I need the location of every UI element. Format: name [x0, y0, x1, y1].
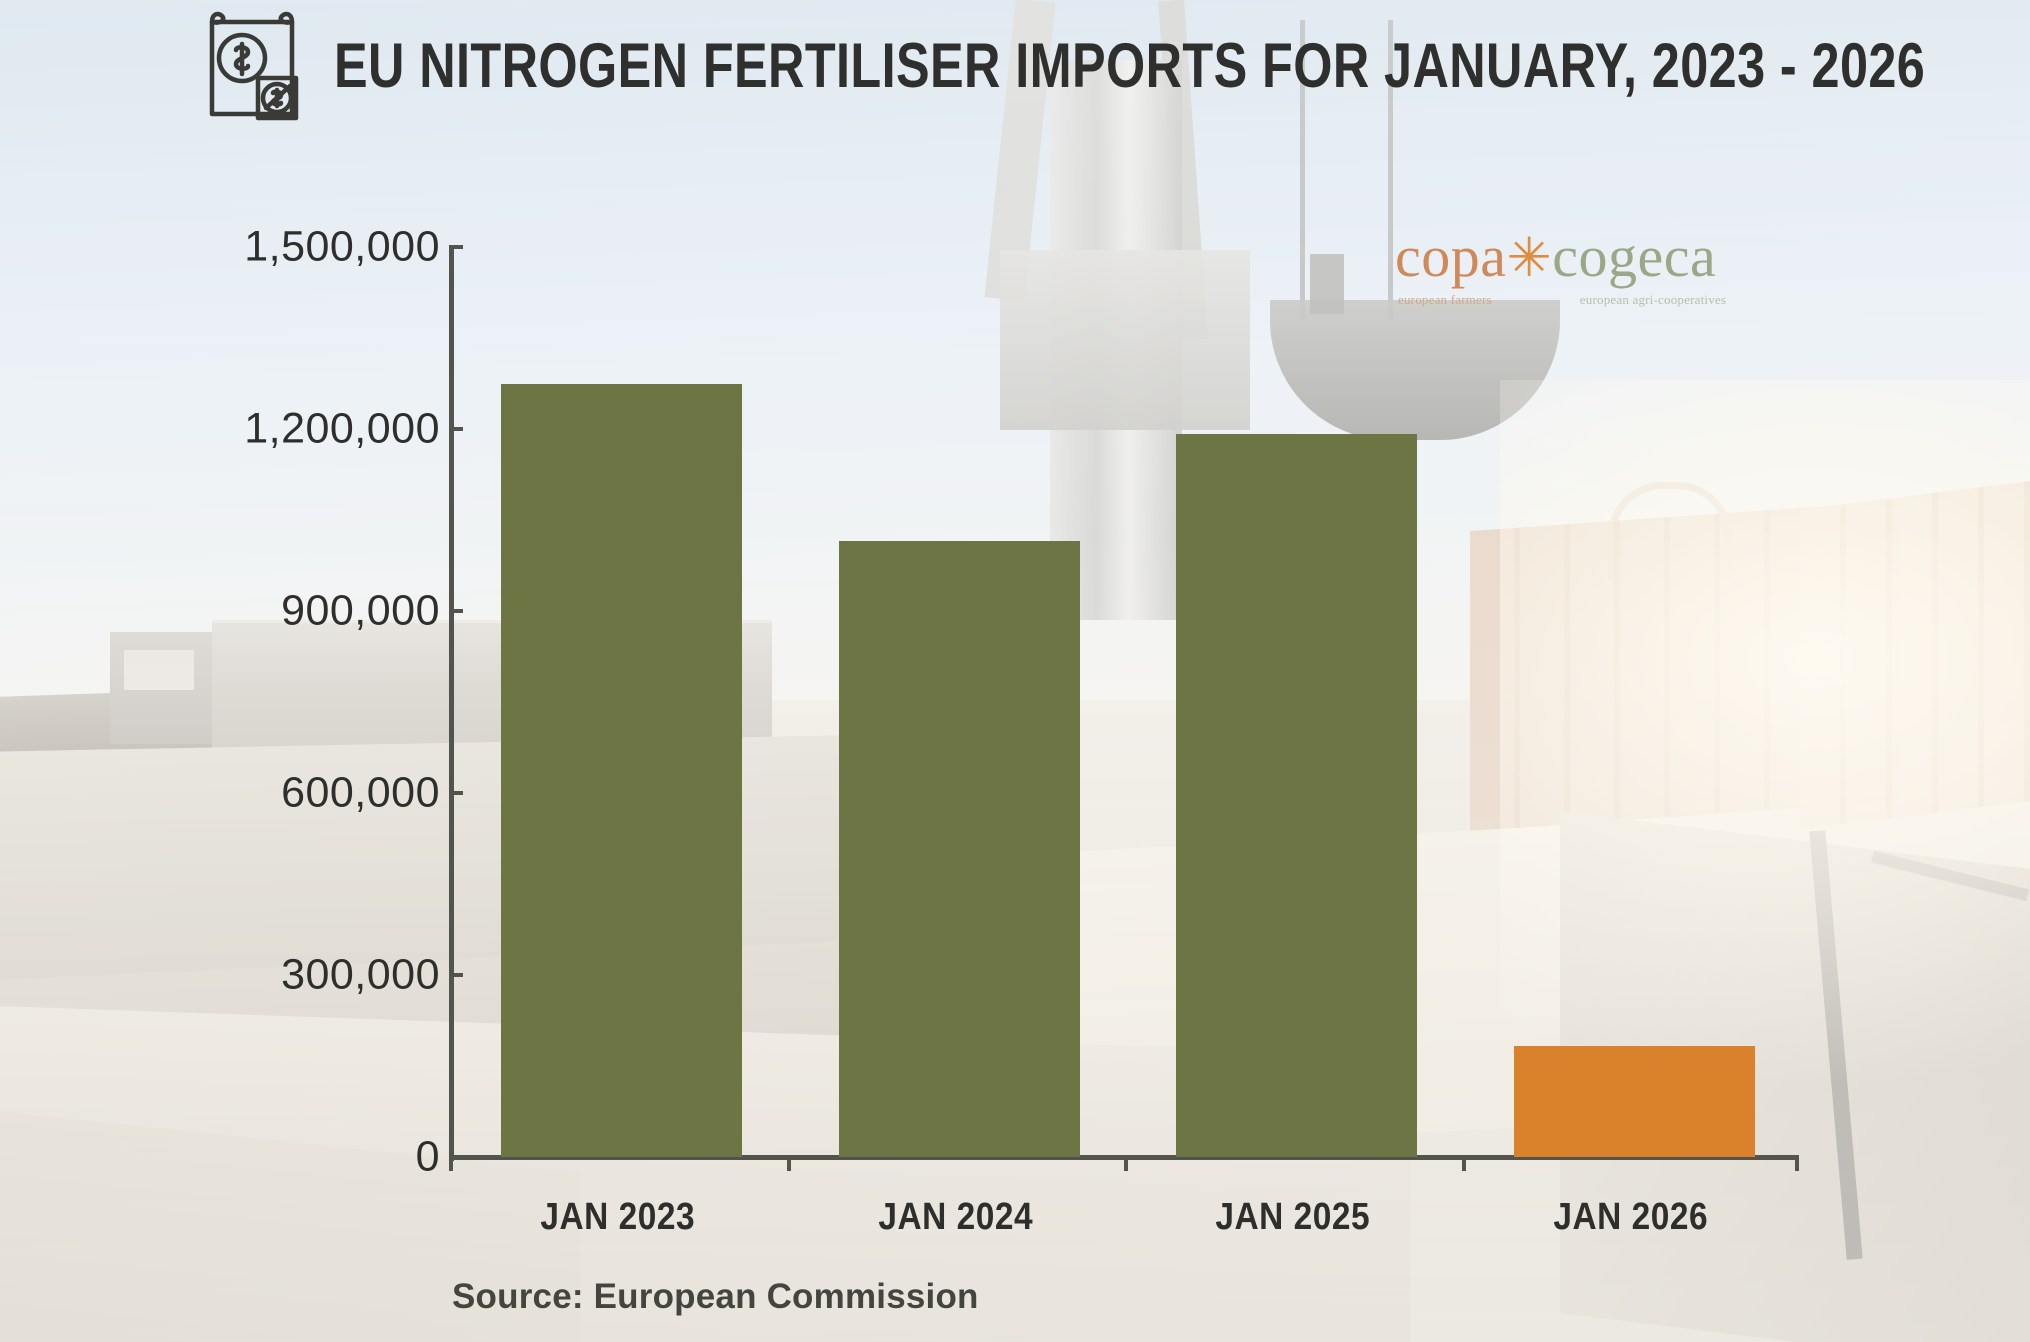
y-axis-tick-label: 600,000 — [281, 769, 440, 818]
source-note: Source: European Commission — [452, 1277, 979, 1317]
x-axis-tick — [1462, 1155, 1466, 1171]
bar-jan-2026[interactable] — [1514, 1046, 1755, 1157]
bar-chart: 0300,000600,000900,0001,200,0001,500,000… — [0, 0, 2030, 1342]
bar-jan-2025[interactable] — [1176, 434, 1417, 1157]
bar-jan-2023[interactable] — [501, 384, 742, 1158]
x-axis-label-jan-2023: JAN 2023 — [469, 1196, 766, 1239]
y-axis-tick-label: 1,200,000 — [244, 405, 440, 454]
y-axis-tick-label: 300,000 — [281, 951, 440, 1000]
x-axis-tick — [449, 1155, 453, 1171]
x-axis-label-jan-2024: JAN 2024 — [807, 1196, 1104, 1239]
y-axis-tick-label: 1,500,000 — [244, 223, 440, 272]
bars-container — [449, 247, 1799, 1157]
x-axis-tick — [1795, 1155, 1799, 1171]
y-axis-tick-label: 900,000 — [281, 587, 440, 636]
y-axis-tick-label: 0 — [416, 1133, 440, 1182]
bar-jan-2024[interactable] — [839, 541, 1080, 1157]
x-axis-label-jan-2026: JAN 2026 — [1482, 1196, 1779, 1239]
x-axis-tick — [1124, 1155, 1128, 1171]
x-axis-label-jan-2025: JAN 2025 — [1144, 1196, 1441, 1239]
x-axis-tick — [787, 1155, 791, 1171]
